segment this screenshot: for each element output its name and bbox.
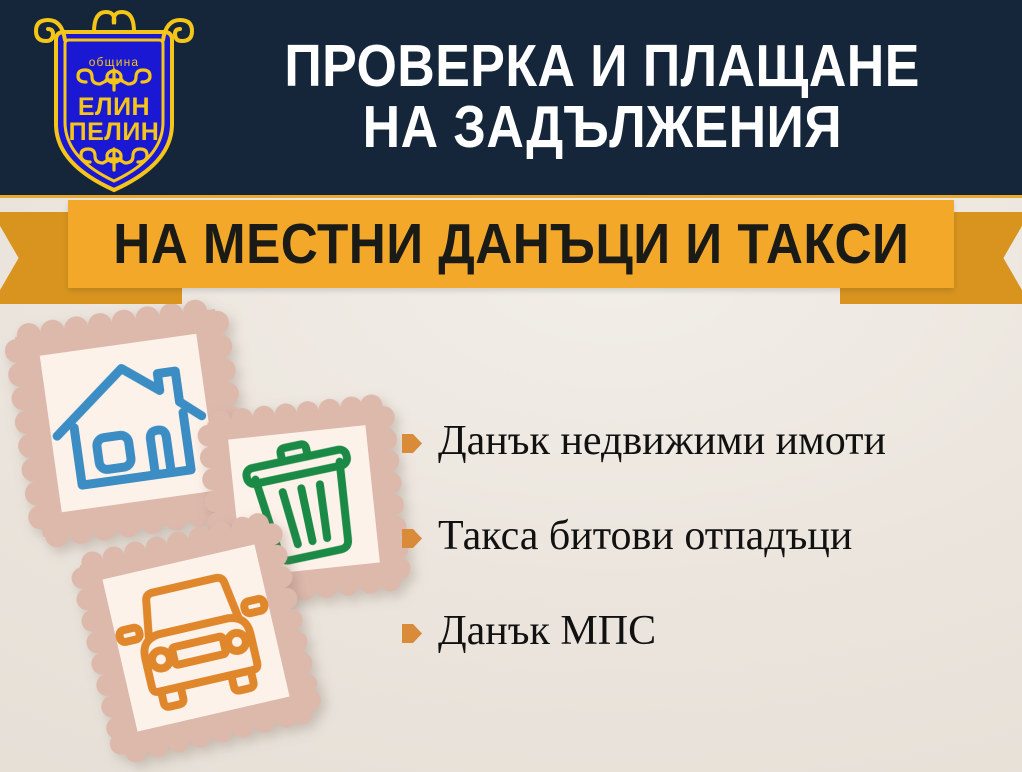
list-item-label: Данък недвижими имоти	[438, 420, 886, 462]
coa-text-pelin: ПЕЛИН	[69, 118, 160, 146]
coa-text-elin: ЕЛИН	[78, 93, 150, 121]
title-line-1: ПРОВЕРКА И ПЛАЩАНЕ	[284, 36, 919, 97]
list-item[interactable]: Такса битови отпадъци	[402, 515, 1020, 557]
arrow-bullet-icon	[402, 527, 422, 550]
tax-type-list: Данък недвижими имоти Такса битови отпад…	[402, 420, 1020, 652]
coa-text-obshtina: община	[89, 55, 140, 69]
list-item-label: Данък МПС	[438, 610, 656, 652]
page-title: ПРОВЕРКА И ПЛАЩАНЕ НА ЗАДЪЛЖЕНИЯ	[196, 22, 1008, 172]
coat-of-arms-icon: община ЕЛИН ПЕЛИН	[34, 6, 194, 196]
poster-canvas: община ЕЛИН ПЕЛИН ПРОВЕ	[0, 0, 1022, 772]
list-item-label: Такса битови отпадъци	[438, 515, 852, 557]
arrow-bullet-icon	[402, 432, 422, 455]
ribbon-label: НА МЕСТНИ ДАНЪЦИ И ТАКСИ	[113, 211, 909, 277]
title-line-2: НА ЗАДЪЛЖЕНИЯ	[362, 97, 841, 158]
ribbon-main-band: НА МЕСТНИ ДАНЪЦИ И ТАКСИ	[68, 200, 954, 288]
subtitle-ribbon: НА МЕСТНИ ДАНЪЦИ И ТАКСИ	[0, 198, 1022, 308]
list-item[interactable]: Данък МПС	[402, 610, 1020, 652]
list-item[interactable]: Данък недвижими имоти	[402, 420, 1020, 462]
arrow-bullet-icon	[402, 622, 422, 645]
stamp-group	[0, 300, 420, 772]
